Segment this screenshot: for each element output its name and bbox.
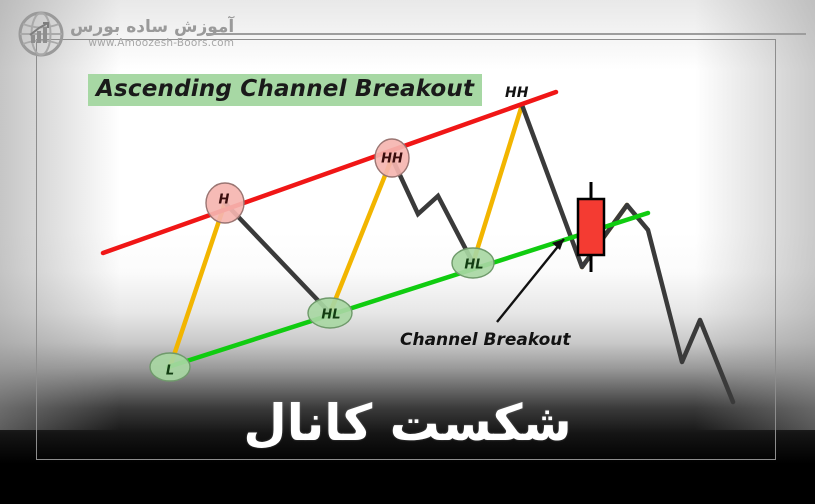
swing-marker-high: [375, 139, 409, 177]
impulse-leg: [473, 105, 522, 263]
breakout-candle: [578, 182, 604, 272]
correction-leg: [392, 158, 473, 263]
swing-marker-low: [452, 248, 494, 278]
swing-marker-low: [308, 298, 352, 328]
support-line: [168, 213, 648, 367]
swing-marker-high: [206, 183, 244, 223]
impulse-leg: [330, 158, 392, 313]
correction-leg: [225, 203, 330, 313]
swing-marker-low: [150, 353, 190, 381]
footer-title-fa: شکست کانال: [0, 394, 815, 452]
resistance-line: [103, 92, 556, 253]
correction-legs: [225, 158, 473, 313]
candle-body: [578, 199, 604, 255]
infographic-canvas: آموزش ساده بورس www.Amoozesh-Boors.com A…: [0, 0, 815, 504]
